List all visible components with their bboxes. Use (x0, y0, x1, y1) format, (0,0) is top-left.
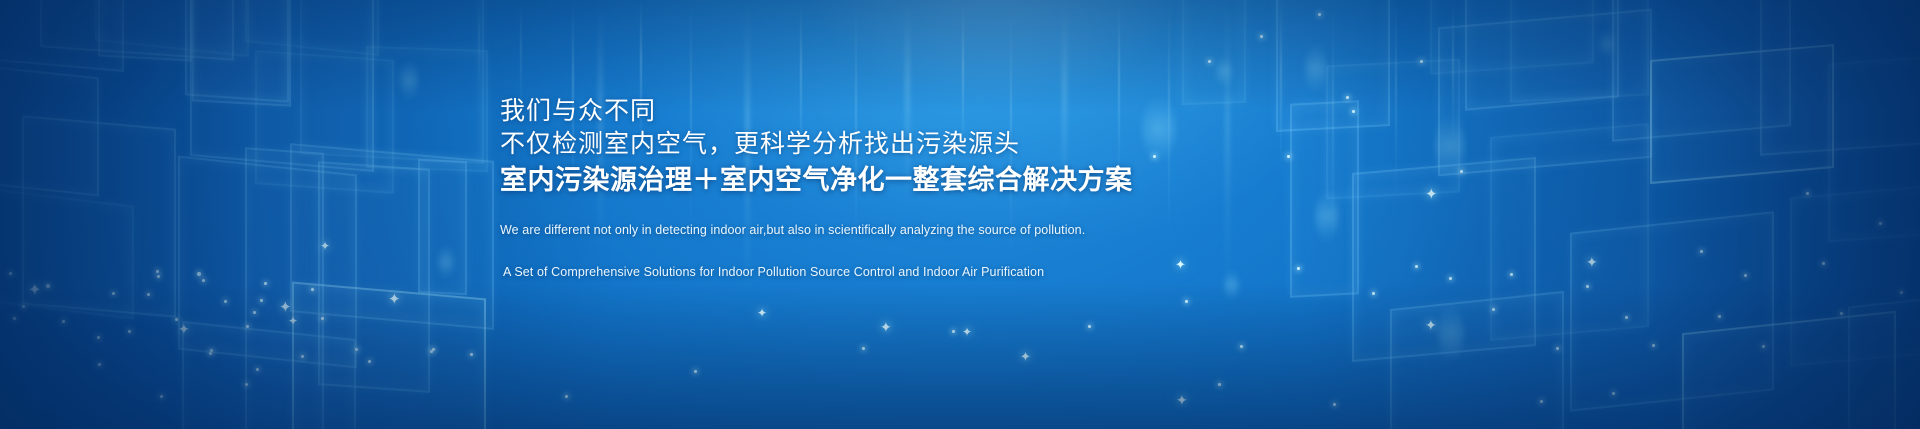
headline-line-2: 不仅检测室内空气，更科学分析找出污染源头 (500, 129, 1500, 160)
headline-line-1: 我们与众不同 (500, 96, 1500, 127)
subtitle-line-1: We are different not only in detecting i… (500, 221, 1500, 240)
subtitle-line-2: A Set of Comprehensive Solutions for Ind… (500, 263, 1500, 282)
hero-banner: ✦ ✦ ✦ ✦ ✦ ✦ ✦ ✦ ✦ ✦ ✦ ✦ ✦ ✦ ✦ 我们与众不同 不仅检… (0, 0, 1920, 429)
banner-copy: 我们与众不同 不仅检测室内空气，更科学分析找出污染源头 室内污染源治理＋室内空气… (500, 96, 1500, 282)
headline-line-3: 室内污染源治理＋室内空气净化一整套综合解决方案 (500, 162, 1500, 198)
